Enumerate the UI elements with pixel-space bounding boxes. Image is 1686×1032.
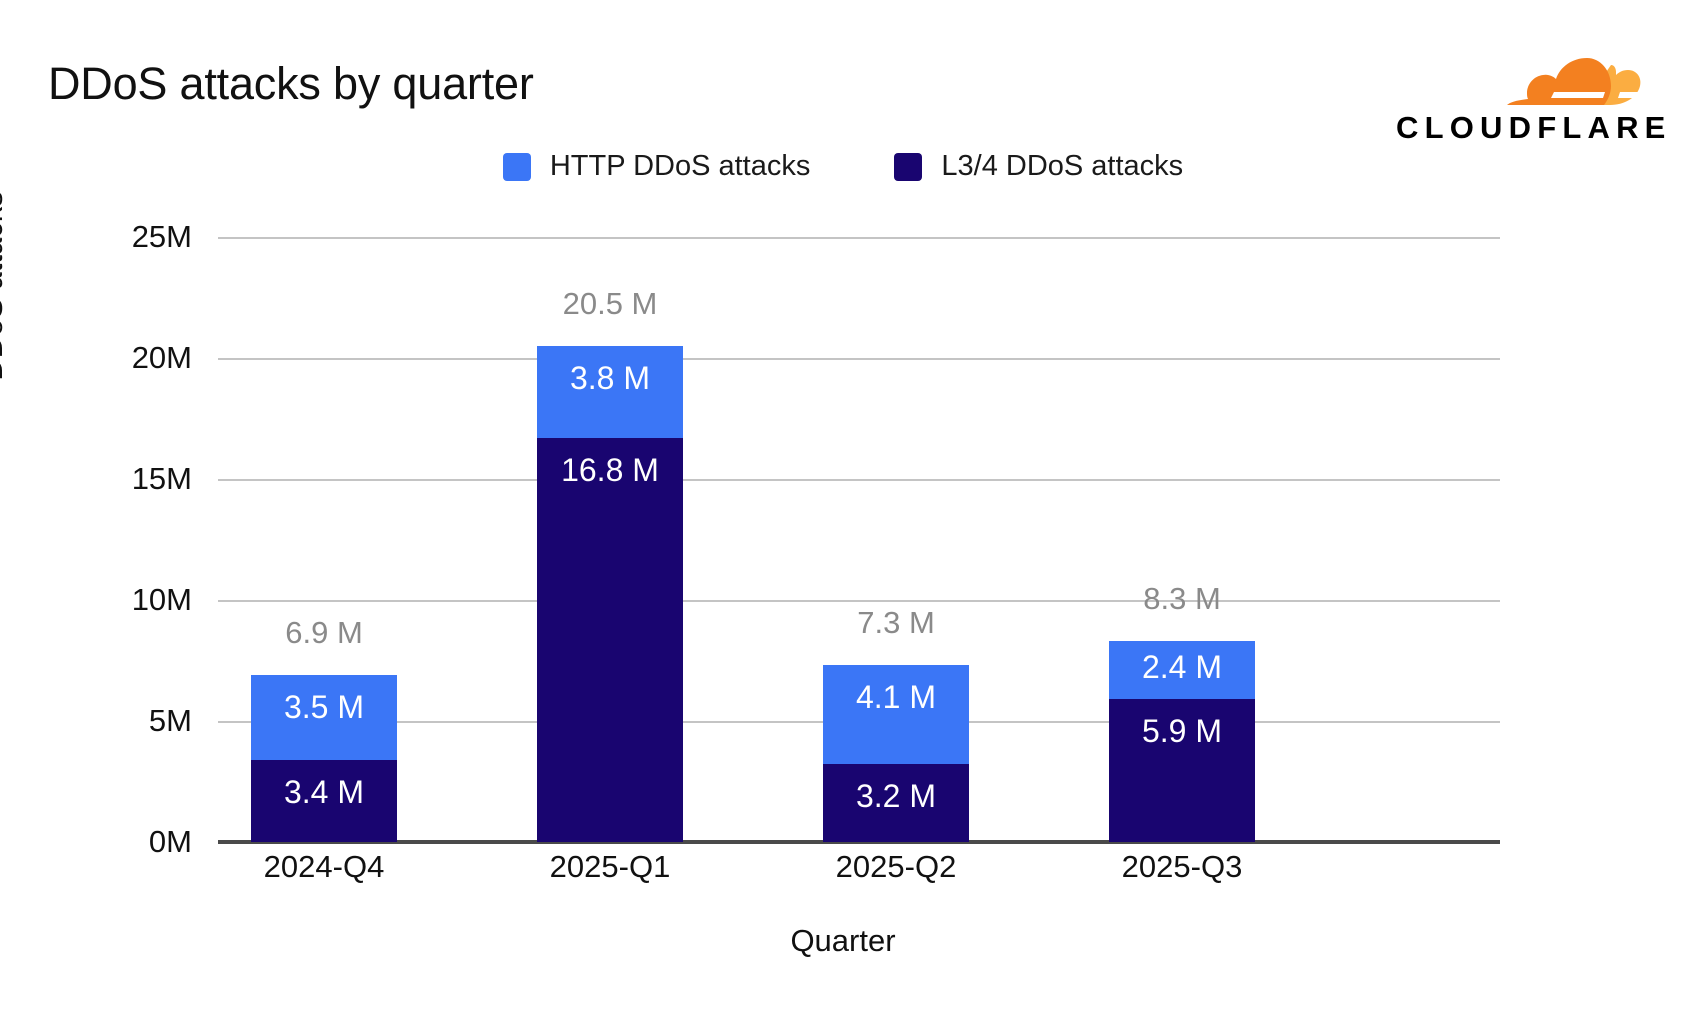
gridline-15m (218, 479, 1500, 481)
bar-segment-label-l34-2025-q2: 3.2 M (856, 764, 936, 815)
legend-label-l34: L3/4 DDoS attacks (941, 150, 1183, 183)
x-tick-label-2024-q4: 2024-Q4 (194, 849, 454, 885)
legend-swatch-icon-l34 (894, 153, 922, 181)
gridline-20m (218, 358, 1500, 360)
x-tick-label-2025-q1: 2025-Q1 (480, 849, 740, 885)
x-axis-label: Quarter (0, 923, 1686, 959)
x-tick-label-2025-q2: 2025-Q2 (766, 849, 1026, 885)
plot-area: 6.9 M 3.5 M 3.4 M 20.5 M 3.8 M 16.8 M 7.… (218, 237, 1500, 842)
y-tick-label-10m: 10M (32, 582, 192, 618)
x-tick-label-2025-q3: 2025-Q3 (1052, 849, 1312, 885)
bar-group-2025-q3[interactable]: 8.3 M 2.4 M 5.9 M (1109, 641, 1255, 842)
bar-segment-label-http-2025-q3: 2.4 M (1142, 641, 1222, 686)
cloudflare-wordmark: CLOUDFLARE (1396, 110, 1648, 146)
page-title: DDoS attacks by quarter (48, 58, 534, 110)
y-tick-label-20m: 20M (32, 340, 192, 376)
bar-segment-label-http-2025-q1: 3.8 M (570, 346, 650, 397)
bar-total-label-2024-q4: 6.9 M (285, 615, 363, 651)
legend-item-http[interactable]: HTTP DDoS attacks (503, 150, 811, 183)
chart-legend: HTTP DDoS attacks L3/4 DDoS attacks (0, 150, 1686, 183)
bar-segment-label-l34-2024-q4: 3.4 M (284, 760, 364, 811)
bar-segment-label-l34-2025-q3: 5.9 M (1142, 699, 1222, 750)
bar-segment-http-2025-q3[interactable]: 2.4 M (1109, 641, 1255, 699)
bar-group-2025-q1[interactable]: 20.5 M 3.8 M 16.8 M (537, 346, 683, 842)
y-tick-label-15m: 15M (32, 461, 192, 497)
y-tick-label-5m: 5M (32, 703, 192, 739)
cloudflare-logo: CLOUDFLARE (1396, 48, 1648, 148)
bar-segment-l34-2024-q4[interactable]: 3.4 M (251, 760, 397, 842)
gridline-25m (218, 237, 1500, 239)
bar-group-2024-q4[interactable]: 6.9 M 3.5 M 3.4 M (251, 675, 397, 842)
bar-total-label-2025-q3: 8.3 M (1143, 581, 1221, 617)
legend-item-l34[interactable]: L3/4 DDoS attacks (894, 150, 1183, 183)
bar-total-label-2025-q2: 7.3 M (857, 605, 935, 641)
y-tick-label-25m: 25M (32, 219, 192, 255)
cloudflare-cloud-icon (1492, 48, 1642, 106)
bar-segment-l34-2025-q2[interactable]: 3.2 M (823, 764, 969, 842)
legend-label-http: HTTP DDoS attacks (550, 150, 811, 183)
y-axis-label: DDoS attacks (0, 146, 10, 426)
bar-group-2025-q2[interactable]: 7.3 M 4.1 M 3.2 M (823, 665, 969, 842)
gridline-10m (218, 600, 1500, 602)
bar-segment-label-l34-2025-q1: 16.8 M (561, 438, 659, 489)
bar-segment-http-2024-q4[interactable]: 3.5 M (251, 675, 397, 760)
bar-segment-l34-2025-q3[interactable]: 5.9 M (1109, 699, 1255, 842)
bar-segment-http-2025-q1[interactable]: 3.8 M (537, 346, 683, 438)
legend-swatch-icon-http (503, 153, 531, 181)
bar-segment-l34-2025-q1[interactable]: 16.8 M (537, 438, 683, 842)
bar-total-label-2025-q1: 20.5 M (563, 286, 658, 322)
bar-segment-http-2025-q2[interactable]: 4.1 M (823, 665, 969, 764)
y-tick-label-0m: 0M (32, 824, 192, 860)
bar-segment-label-http-2024-q4: 3.5 M (284, 675, 364, 726)
bar-segment-label-http-2025-q2: 4.1 M (856, 665, 936, 716)
